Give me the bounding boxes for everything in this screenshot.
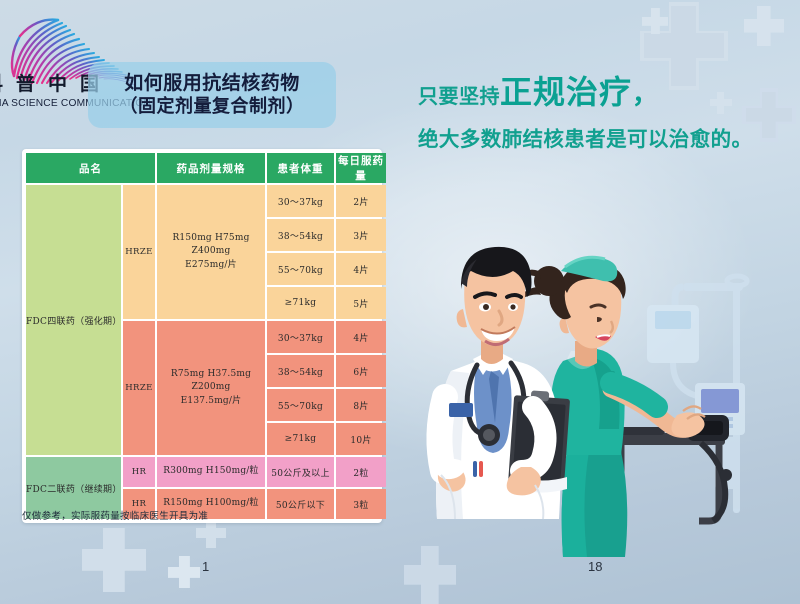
spec-line1: R75mg H37.5mg Z200mg — [171, 369, 251, 392]
page-title-line1: 如何服用抗结核药物 — [124, 73, 300, 95]
dose-0-1-3: 10片 — [336, 423, 386, 455]
abbr-0-0: HRZE — [123, 185, 155, 319]
headline-line2: 绝大多数肺结核患者是可以治愈的。 — [418, 122, 788, 152]
weight-0-0-0: 30～37kg — [267, 185, 334, 217]
dosage-table: 品名 药品剂量规格 患者体重 每日服药量 FDC四联药（强化期） HRZE R1… — [24, 151, 388, 521]
weight-0-0-2: 55～70kg — [267, 253, 334, 285]
decorative-cross-icon — [642, 8, 668, 34]
weight-0-1-3: ≥71kg — [267, 423, 334, 455]
spec-line1: R150mg H75mg Z400mg — [172, 233, 249, 256]
dose-0-0-1: 3片 — [336, 219, 386, 251]
headline-punct: ， — [632, 80, 658, 110]
weight-0-0-3: ≥71kg — [267, 287, 334, 319]
illustration-svg — [415, 175, 800, 560]
column-header-weight: 患者体重 — [267, 153, 334, 183]
doctor-and-nurse-illustration — [415, 175, 800, 560]
column-header-dose: 每日服药量 — [336, 153, 386, 183]
spec-1-0: R300mg H150mg/粒 — [157, 457, 265, 487]
medical-equipment-bg — [647, 276, 747, 513]
page-number-right: 18 — [588, 559, 602, 574]
spec-line2: E275mg/片 — [185, 260, 237, 270]
decorative-cross-icon — [82, 528, 146, 592]
weight-0-1-2: 55～70kg — [267, 389, 334, 421]
weight-0-1-0: 30～37kg — [267, 321, 334, 353]
spec-0-0: R150mg H75mg Z400mg E275mg/片 — [157, 185, 265, 319]
decorative-cross-icon — [744, 6, 784, 46]
weight-0-1-1: 38～54kg — [267, 355, 334, 387]
page-number-left: 1 — [202, 559, 209, 574]
weight-1-1-0: 50公斤以下 — [267, 489, 334, 519]
dose-0-1-0: 4片 — [336, 321, 386, 353]
column-header-spec: 药品剂量规格 — [157, 153, 265, 183]
weight-1-0-0: 50公斤及以上 — [267, 457, 334, 487]
weight-0-0-1: 38～54kg — [267, 219, 334, 251]
dose-1-1-0: 3粒 — [336, 489, 386, 519]
table-row: FDC四联药（强化期） HRZE R150mg H75mg Z400mg E27… — [26, 185, 386, 217]
dosage-table-container: 品名 药品剂量规格 患者体重 每日服药量 FDC四联药（强化期） HRZE R1… — [22, 149, 382, 523]
dose-1-0-0: 2粒 — [336, 457, 386, 487]
headline: 只要坚持正规治疗， 绝大多数肺结核患者是可以治愈的。 — [418, 76, 788, 152]
dose-0-1-1: 6片 — [336, 355, 386, 387]
spec-0-1: R75mg H37.5mg Z200mg E137.5mg/片 — [157, 321, 265, 455]
table-footnote: 仅做参考，实际服药量按临床医生开具为准 — [22, 508, 208, 522]
headline-prefix: 只要坚持 — [418, 84, 500, 108]
page-title-line2: （固定剂量复合制剂） — [120, 97, 305, 118]
dose-0-1-2: 8片 — [336, 389, 386, 421]
spec-line2: E137.5mg/片 — [181, 396, 242, 406]
decorative-cross-icon — [168, 556, 200, 588]
dose-0-0-2: 4片 — [336, 253, 386, 285]
dose-0-0-3: 5片 — [336, 287, 386, 319]
headline-emphasis: 正规治疗 — [500, 73, 632, 111]
dose-0-0-0: 2片 — [336, 185, 386, 217]
abbr-1-0: HR — [123, 457, 155, 487]
table-row: FDC二联药（继续期） HR R300mg H150mg/粒 50公斤及以上 2… — [26, 457, 386, 487]
abbr-0-1: HRZE — [123, 321, 155, 455]
poster-canvas: 科普中国 CHINA SCIENCE COMMUNICATION 如何服用抗结核… — [0, 0, 800, 604]
headline-line1: 只要坚持正规治疗， — [418, 76, 788, 108]
page-title: 如何服用抗结核药物 （固定剂量复合制剂） — [88, 62, 336, 128]
table-header-row: 品名 药品剂量规格 患者体重 每日服药量 — [26, 153, 386, 183]
group-name-0: FDC四联药（强化期） — [26, 185, 121, 455]
column-header-name: 品名 — [26, 153, 155, 183]
